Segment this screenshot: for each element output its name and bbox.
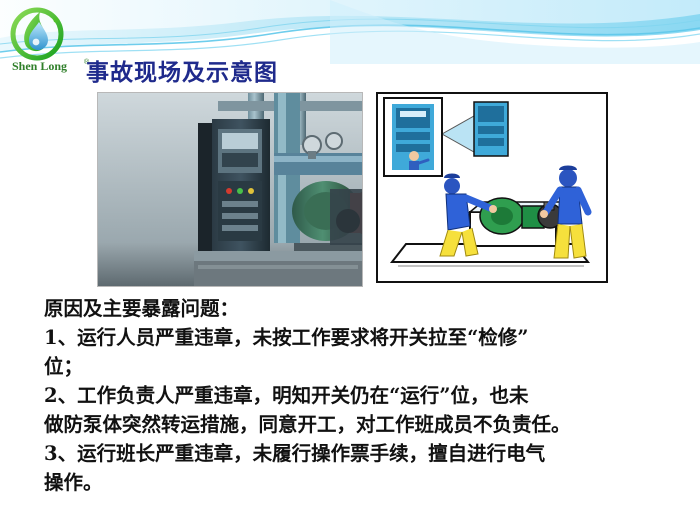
content-heading: 原因及主要暴露问题： [44, 294, 684, 323]
content-line-5: 3、运行班长严重违章，未履行操作票手续，擅自进行电气 [44, 439, 684, 468]
content-line-6: 操作。 [44, 468, 684, 497]
content-line-1: 1、运行人员严重违章，未按工作要求将开关拉至“检修” [44, 323, 684, 352]
logo-text: Shen Long [12, 59, 67, 73]
accident-schematic-diagram [376, 92, 608, 283]
content-line-3: 2、工作负责人严重违章，明知开关仍在“运行”位，也未 [44, 381, 684, 410]
content-block: 原因及主要暴露问题： 1、运行人员严重违章，未按工作要求将开关拉至“检修” 位；… [44, 294, 684, 497]
content-line-4: 做防泵体突然转运措施，同意开工，对工作班成员不负责任。 [44, 410, 684, 439]
page-title: 事故现场及示意图 [86, 53, 278, 87]
slide-canvas: Shen Long ® 事故现场及示意图 [0, 0, 700, 525]
accident-scene-photo [97, 92, 363, 287]
content-line-2: 位； [44, 352, 684, 381]
